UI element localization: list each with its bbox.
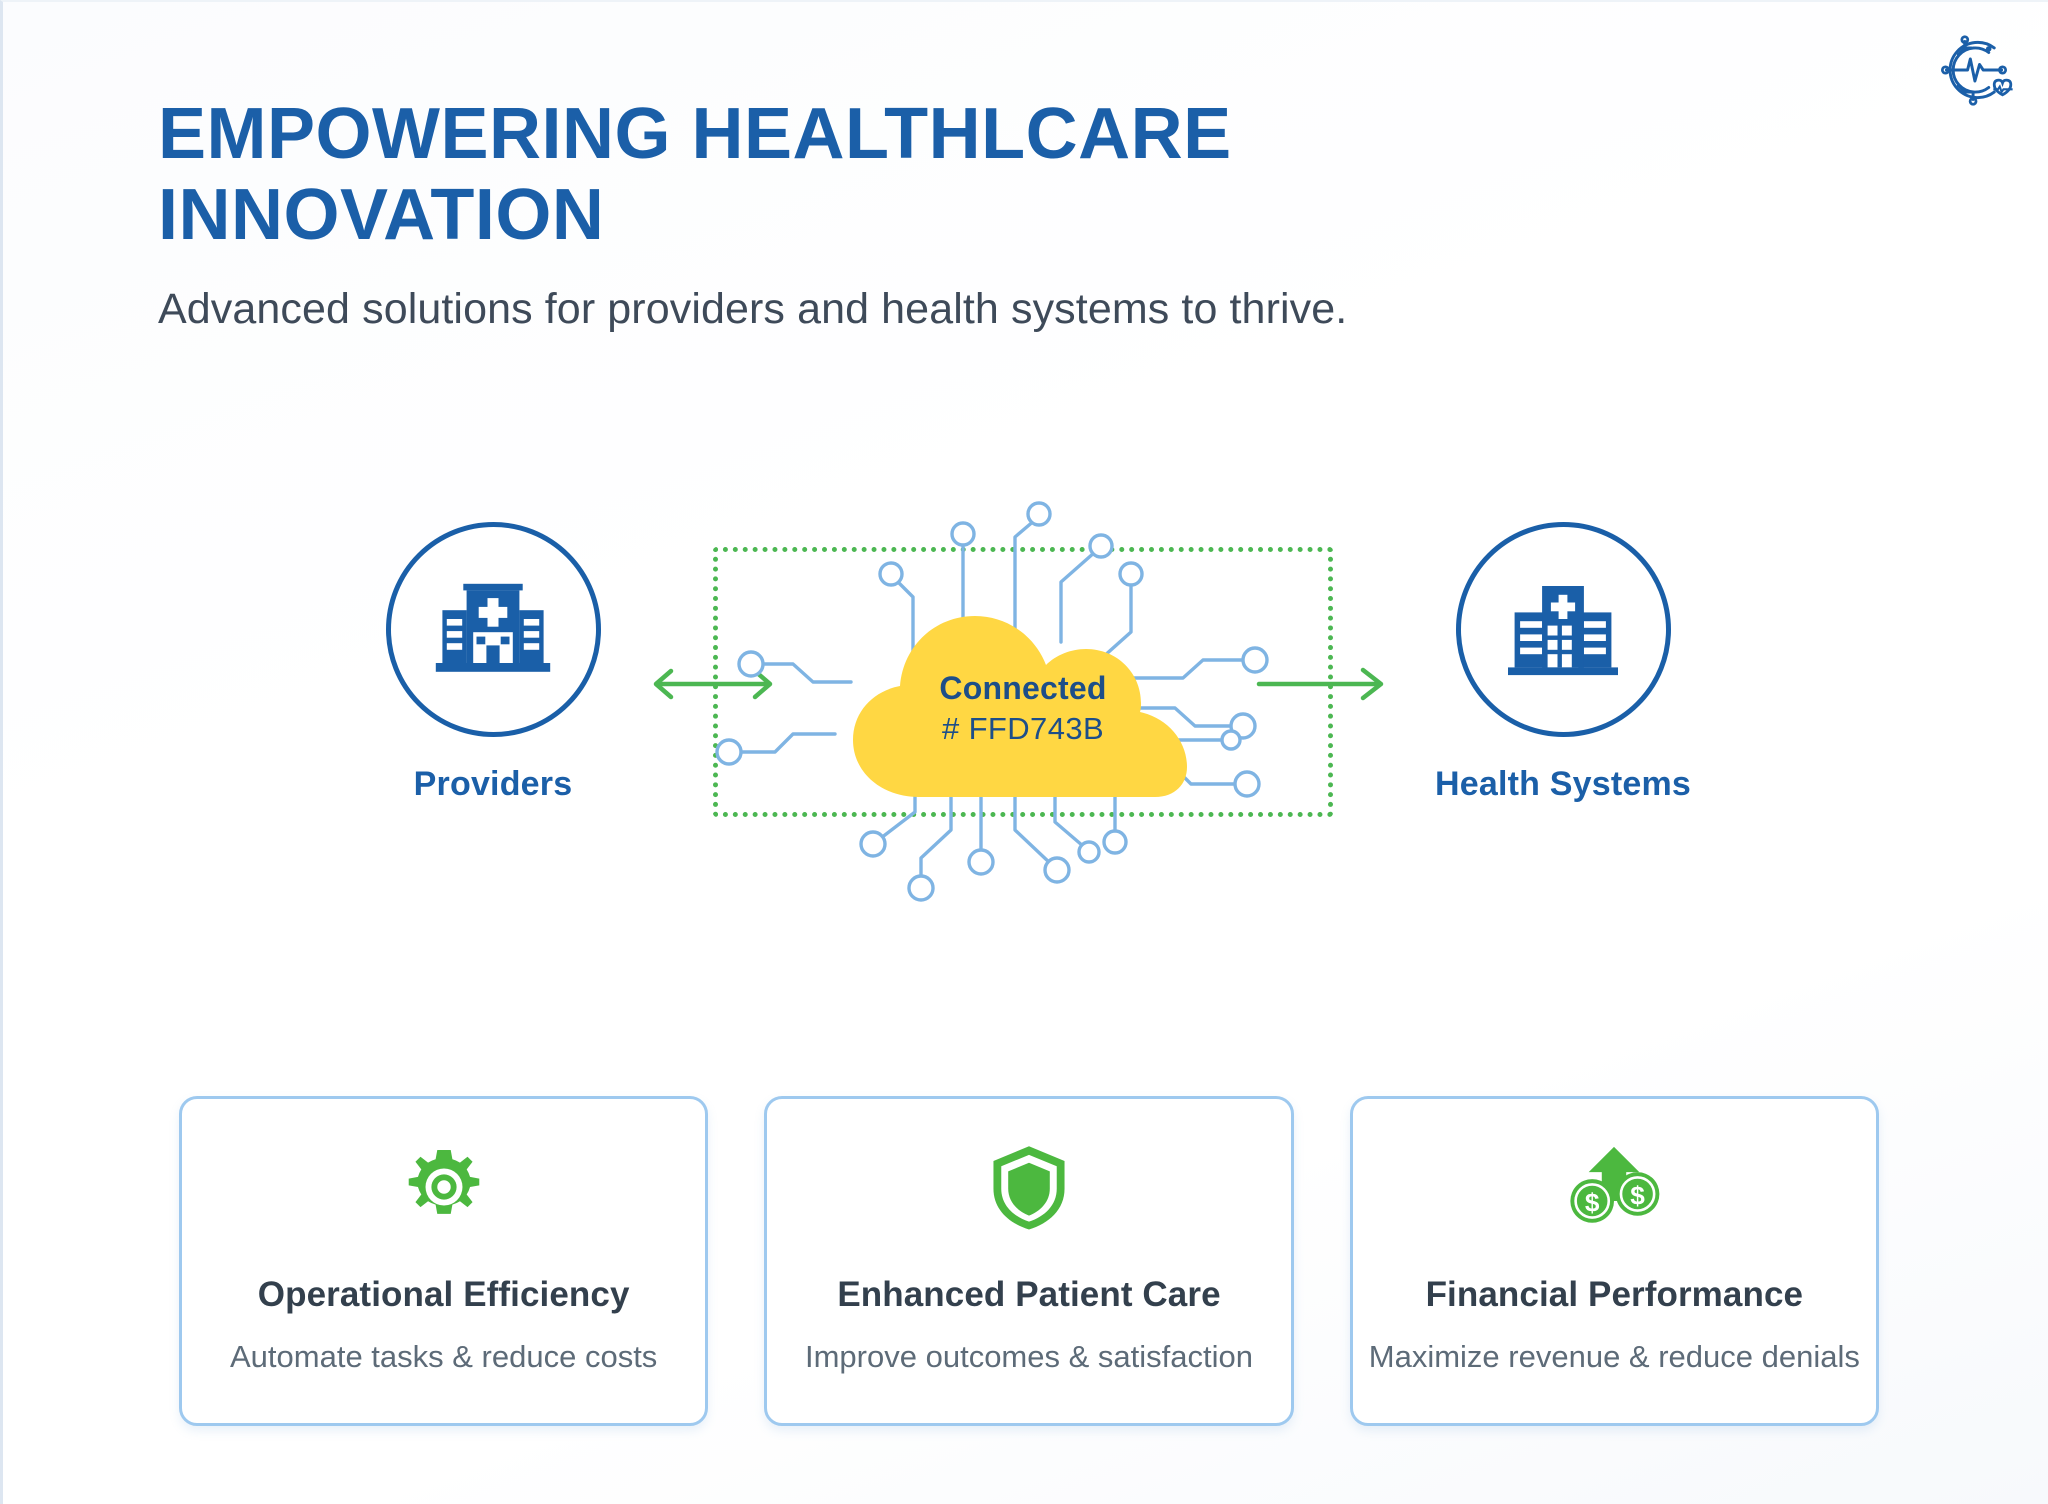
circuit-c-heartbeat-logo — [1928, 24, 2020, 116]
slide-canvas: EMPOWERING HEALTHLCARE INNOVATION Advanc… — [0, 0, 2048, 1504]
card-description: Automate tasks & reduce costs — [230, 1339, 657, 1375]
card-description: Maximize revenue & reduce denials — [1369, 1339, 1860, 1375]
arrow-right-icon — [1253, 662, 1393, 706]
cloud-main-label: Connected — [823, 670, 1223, 707]
card-icon-wrap: $ $ — [1566, 1141, 1662, 1233]
health-systems-label: Health Systems — [1413, 765, 1713, 804]
benefit-card-enhanced-patient-care[interactable]: Enhanced Patient Care Improve outcomes &… — [764, 1096, 1293, 1426]
benefit-card-operational-efficiency[interactable]: Operational Efficiency Automate tasks & … — [179, 1096, 708, 1426]
providers-label: Providers — [343, 765, 643, 804]
diagram-node-providers[interactable]: Providers — [343, 522, 643, 804]
brand-logo — [1928, 24, 2020, 116]
header-block: EMPOWERING HEALTHLCARE INNOVATION Advanc… — [158, 94, 1658, 334]
svg-text:$: $ — [1631, 1180, 1646, 1210]
providers-circle — [386, 522, 601, 737]
card-title: Financial Performance — [1426, 1275, 1804, 1315]
hospital-building-icon — [427, 564, 559, 696]
svg-text:$: $ — [1585, 1187, 1600, 1217]
cloud-text-block: Connected # FFD743B — [823, 670, 1223, 747]
connected-cloud[interactable]: Connected # FFD743B — [823, 592, 1223, 807]
card-description: Improve outcomes & satisfaction — [805, 1339, 1253, 1375]
hospital-complex-icon — [1497, 564, 1629, 696]
money-growth-icon: $ $ — [1566, 1143, 1662, 1231]
shield-icon — [990, 1143, 1068, 1231]
card-icon-wrap — [402, 1141, 486, 1233]
health-systems-circle — [1456, 522, 1671, 737]
page-title: EMPOWERING HEALTHLCARE INNOVATION — [158, 94, 1428, 255]
connectivity-diagram: Providers — [3, 522, 2048, 942]
connected-cloud-stage: Connected # FFD743B — [663, 512, 1383, 912]
cloud-sub-label: # FFD743B — [823, 711, 1223, 747]
benefit-cards: Operational Efficiency Automate tasks & … — [179, 1096, 1879, 1426]
right-arrow — [1253, 662, 1393, 711]
diagram-node-health-systems[interactable]: Health Systems — [1413, 522, 1713, 804]
benefit-card-financial-performance[interactable]: $ $ Financial Performance Maximize reven… — [1350, 1096, 1879, 1426]
card-title: Operational Efficiency — [258, 1275, 630, 1315]
card-title: Enhanced Patient Care — [837, 1275, 1220, 1315]
gear-icon — [402, 1145, 486, 1229]
card-icon-wrap — [990, 1141, 1068, 1233]
page-subtitle: Advanced solutions for providers and hea… — [158, 285, 1658, 334]
